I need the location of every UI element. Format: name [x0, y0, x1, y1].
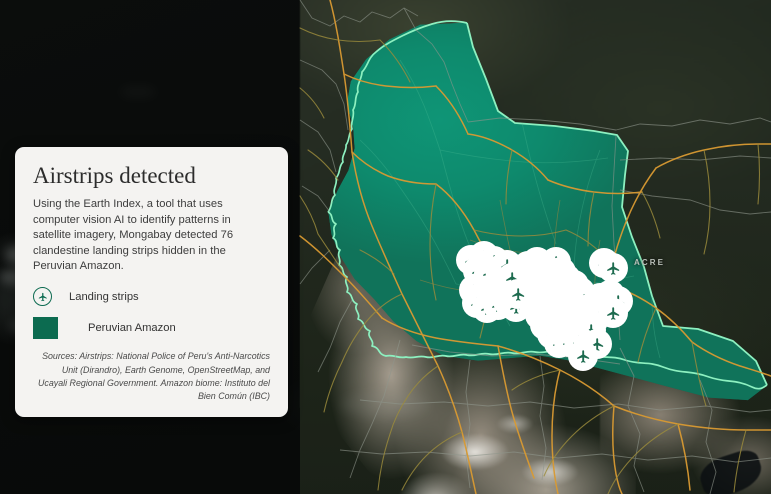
- airstrip-marker[interactable]: [598, 253, 628, 283]
- legend-card: Airstrips detected Using the Earth Index…: [15, 147, 288, 417]
- color-swatch-peruvian-amazon: [33, 317, 58, 339]
- page-title: Airstrips detected: [33, 163, 270, 188]
- airplane-circle-icon: [33, 287, 52, 306]
- airstrip-marker[interactable]: [568, 341, 598, 371]
- map-screenshot: ACRE Airstrips detected Using the Earth …: [0, 0, 771, 494]
- sources-note: Sources: Airstrips: National Police of P…: [33, 350, 270, 403]
- card-description: Using the Earth Index, a tool that uses …: [33, 197, 270, 274]
- airstrip-marker[interactable]: [598, 298, 628, 328]
- legend-label-landing-strips: Landing strips: [69, 291, 139, 303]
- airstrip-marker[interactable]: [503, 279, 533, 309]
- legend-item-peruvian-amazon[interactable]: Peruvian Amazon: [33, 317, 270, 339]
- legend-label-peruvian-amazon: Peruvian Amazon: [88, 322, 176, 334]
- legend-item-landing-strips[interactable]: Landing strips: [33, 287, 270, 306]
